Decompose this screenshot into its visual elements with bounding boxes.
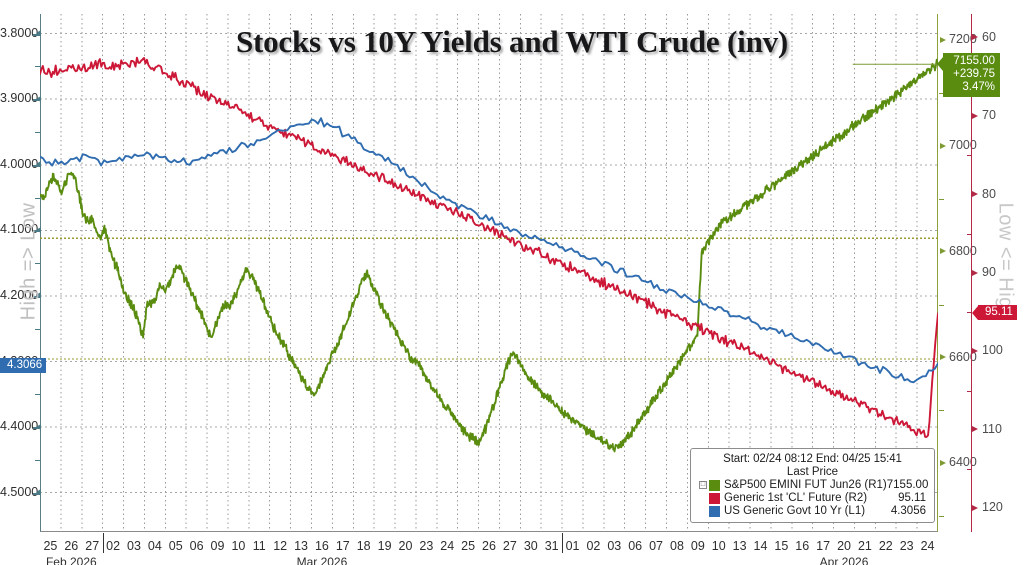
x-axis-tick-label: 16 — [315, 539, 329, 553]
x-axis-month-label: Apr 2026 — [820, 555, 869, 565]
right-axis-1-minor-tick — [939, 410, 944, 411]
x-axis-tick-label: 02 — [586, 539, 600, 553]
x-axis-tick-label: 27 — [85, 539, 99, 553]
right-axis-2-tick-label: 120 — [982, 500, 1003, 514]
series-line-l1 — [40, 118, 938, 382]
right-axis-1-tick-arrow — [940, 37, 946, 43]
left-last-price-badge: 4.3066 — [0, 358, 46, 373]
x-axis-tick-label: 16 — [795, 539, 809, 553]
right-axis-1-tick-arrow — [940, 143, 946, 149]
x-axis-tick-label: 01 — [566, 539, 580, 553]
left-axis-minor-tick — [35, 329, 40, 330]
x-axis-tick-label: 15 — [774, 539, 788, 553]
right-axis-2-minor-tick — [967, 391, 972, 392]
chart-screenshot: Stocks vs 10Y Yields and WTI Crude (inv)… — [0, 0, 1024, 565]
series-line-r2 — [40, 58, 938, 437]
right-axis-1-tick-arrow — [940, 460, 946, 466]
x-axis-tick-label: 21 — [858, 539, 872, 553]
right-axis-2-tick-arrow — [972, 505, 978, 511]
sp500-pct: 3.47% — [950, 81, 995, 94]
left-last-price-value: 4.3066 — [7, 359, 42, 371]
x-axis-tick-label: 30 — [524, 539, 538, 553]
right-axis-1-tick-arrow — [940, 354, 946, 360]
right-last-price-value: 95.11 — [985, 306, 1013, 318]
right-axis-1-tick-label: 6400 — [949, 455, 977, 469]
left-axis-tick-arrow — [36, 30, 41, 36]
left-axis-minor-tick — [35, 66, 40, 67]
left-axis-minor-tick — [35, 394, 40, 395]
x-axis-tick-label: 22 — [879, 539, 893, 553]
legend-color-swatch — [709, 480, 720, 491]
left-axis-tick-label: 4.4000 — [0, 419, 34, 433]
x-axis-tick-label: 31 — [545, 539, 559, 553]
x-axis-tick-label: 25 — [461, 539, 475, 553]
sp500-price: 7155.00 — [950, 55, 995, 68]
x-axis-tick-label: 23 — [419, 539, 433, 553]
right-axis-1-tick-label: 6800 — [949, 244, 977, 258]
x-axis-tick-label: 02 — [106, 539, 120, 553]
legend-rows: □S&P500 EMINI FUT Jun26 (R1)7155.00Gener… — [699, 479, 926, 517]
x-axis-tick-label: 17 — [336, 539, 350, 553]
legend-subheader: Last Price — [699, 466, 926, 478]
x-axis-tick-label: 24 — [921, 539, 935, 553]
legend-item[interactable]: Generic 1st 'CL' Future (R2)95.11 — [699, 492, 926, 504]
right-axis-2-tick-arrow — [972, 34, 978, 40]
x-axis-tick-label: 27 — [503, 539, 517, 553]
legend-color-swatch — [709, 493, 720, 504]
x-axis-tick-label: 12 — [273, 539, 287, 553]
x-axis-month-separator — [103, 533, 104, 553]
legend-item[interactable]: □S&P500 EMINI FUT Jun26 (R1)7155.00 — [699, 479, 926, 491]
x-axis-tick-label: 07 — [649, 539, 663, 553]
left-axis-caption: High => Low — [18, 197, 41, 327]
x-axis-tick-label: 20 — [837, 539, 851, 553]
chart-legend[interactable]: Start: 02/24 08:12 End: 04/25 15:41 Last… — [690, 448, 935, 523]
left-axis-tick-label: 3.9000 — [0, 91, 34, 105]
x-axis-tick-label: 10 — [231, 539, 245, 553]
x-axis-tick-label: 09 — [691, 539, 705, 553]
legend-series-name: US Generic Govt 10 Yr (L1) — [724, 505, 891, 517]
legend-series-name: S&P500 EMINI FUT Jun26 (R1) — [724, 479, 887, 491]
left-axis-tick-arrow — [36, 489, 41, 495]
right-axis-2-tick-label: 110 — [982, 422, 1002, 436]
right-axis-2-tick-arrow — [972, 191, 978, 197]
right-axis-2-tick-arrow — [972, 426, 978, 432]
legend-series-value: 7155.00 — [887, 479, 929, 491]
right-axis-2-tick-arrow — [972, 270, 978, 276]
right-axis-2-tick-label: 70 — [982, 108, 996, 122]
x-axis-tick-label: 18 — [357, 539, 371, 553]
x-axis-tick-label: 06 — [190, 539, 204, 553]
x-axis-month-label: Mar 2026 — [297, 555, 348, 565]
x-axis-tick-label: 04 — [148, 539, 162, 553]
right-axis-2-tick-label: 60 — [982, 30, 996, 44]
x-axis-tick-label: 26 — [482, 539, 496, 553]
x-axis-tick-label: 05 — [169, 539, 183, 553]
x-axis-tick-label: 19 — [378, 539, 392, 553]
x-axis-tick-label: 25 — [43, 539, 57, 553]
right-axis-2-tick-arrow — [972, 113, 978, 119]
right-axis-2-minor-tick — [967, 155, 972, 156]
left-axis-tick-arrow — [36, 161, 41, 167]
legend-series-value: 95.11 — [898, 492, 926, 504]
x-axis-tick-label: 13 — [733, 539, 747, 553]
left-axis-minor-tick — [35, 132, 40, 133]
x-axis-month-separator — [562, 533, 563, 553]
x-axis-tick-label: 09 — [211, 539, 225, 553]
x-axis-tick-label: 23 — [900, 539, 914, 553]
legend-item[interactable]: US Generic Govt 10 Yr (L1)4.3056 — [699, 505, 926, 517]
x-axis-tick-label: 06 — [628, 539, 642, 553]
right-axis-1-minor-tick — [939, 305, 944, 306]
legend-series-value: 4.3056 — [891, 505, 926, 517]
x-axis-tick-label: 08 — [670, 539, 684, 553]
x-axis-tick-label: 17 — [816, 539, 830, 553]
series-line-r1 — [40, 60, 938, 452]
x-axis-tick-label: 10 — [712, 539, 726, 553]
sp500-change: +239.75 — [950, 68, 995, 81]
sp500-last-price-badge: 7155.00 +239.75 3.47% — [943, 53, 1000, 97]
legend-date-range: Start: 02/24 08:12 End: 04/25 15:41 — [699, 453, 926, 465]
x-axis-tick-label: 03 — [127, 539, 141, 553]
x-axis-tick-label: 13 — [294, 539, 308, 553]
right-last-price-badge: 95.11 — [978, 305, 1017, 320]
legend-expander-icon[interactable]: □ — [699, 481, 707, 489]
left-axis-tick-label: 4.0000 — [0, 157, 34, 171]
right-axis-2-tick-arrow — [972, 348, 978, 354]
x-axis-tick-label: 11 — [253, 539, 266, 553]
x-axis: 2526270203040506091011121316171819202324… — [0, 533, 1024, 565]
right-axis-1-minor-tick — [939, 516, 944, 517]
x-axis-tick-label: 14 — [754, 539, 768, 553]
left-axis-minor-tick — [35, 460, 40, 461]
left-axis-tick-label: 4.5000 — [0, 485, 34, 499]
right-axis-1-tick-arrow — [940, 248, 946, 254]
left-axis-tick-arrow — [36, 96, 41, 102]
legend-series-name: Generic 1st 'CL' Future (R2) — [724, 492, 898, 504]
right-axis-1-minor-tick — [939, 199, 944, 200]
right-axis-2-tick-label: 100 — [982, 343, 1003, 357]
page-title: Stocks vs 10Y Yields and WTI Crude (inv) — [0, 24, 1024, 60]
x-axis-month-label: Feb 2026 — [46, 555, 97, 565]
x-axis-tick-label: 03 — [607, 539, 621, 553]
x-axis-tick-label: 24 — [440, 539, 454, 553]
left-axis-tick-label: 3.8000 — [0, 26, 34, 40]
legend-color-swatch — [709, 506, 720, 517]
right-axis-2-minor-tick — [967, 234, 972, 235]
x-axis-tick-label: 20 — [399, 539, 413, 553]
right-axis-1-tick-label: 7000 — [949, 138, 977, 152]
right-axis-2-minor-tick — [967, 469, 972, 470]
x-axis-tick-label: 26 — [64, 539, 78, 553]
left-axis-tick-arrow — [36, 424, 41, 430]
